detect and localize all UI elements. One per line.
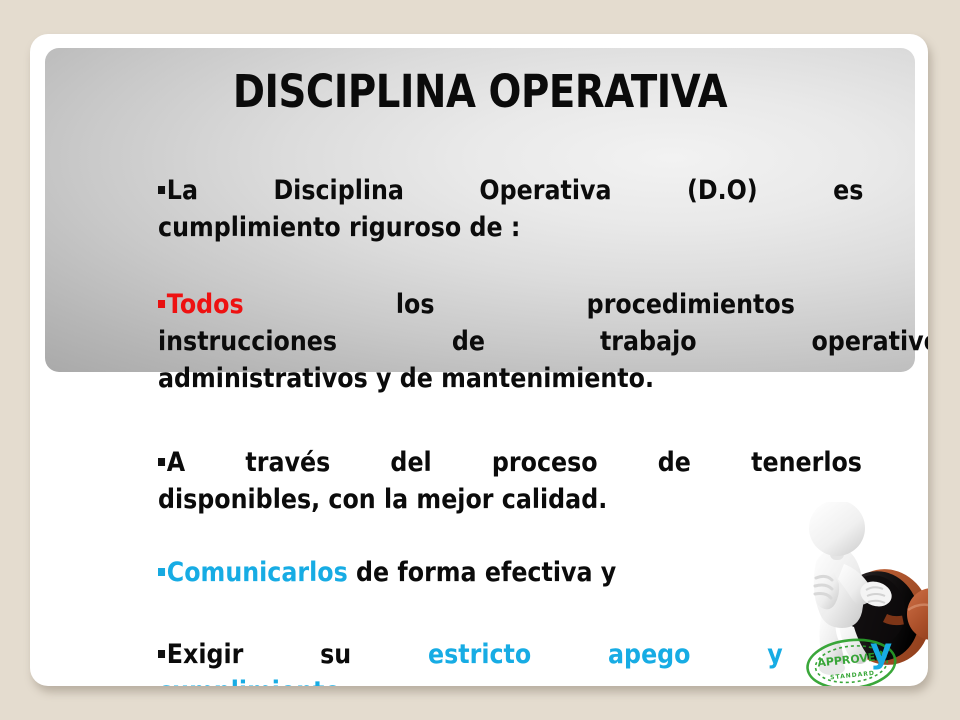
overlapped-letter-y: y <box>870 631 892 671</box>
person-with-stamp-illustration: APPROVED STANDARD y <box>782 502 928 686</box>
bullet-2-line-2: instrucciones de trabajo operativos, <box>158 323 928 360</box>
bullet-paragraph-5: Exigir su estricto apego y cumplimiento <box>158 636 783 686</box>
bullet-marker-2: Todos <box>158 286 244 323</box>
bullet-5-line-1: Exigir su estricto apego y <box>158 636 783 673</box>
bullet-paragraph-3: A través del proceso de tenerlos disponi… <box>158 444 862 518</box>
square-bullet-icon <box>158 458 165 466</box>
square-bullet-icon <box>158 186 165 194</box>
square-bullet-icon <box>158 650 165 658</box>
bullet-marker-3: A <box>158 444 185 481</box>
bullet-1-line-1: La Disciplina Operativa (D.O) es el <box>158 172 928 209</box>
bullet-paragraph-4: Comunicarlos de forma efectiva y <box>158 554 862 591</box>
bullet-marker-5: Exigir <box>158 636 243 673</box>
bullet-3-line-1: A través del proceso de tenerlos <box>158 444 862 481</box>
bullet-1-line-2: cumplimiento riguroso de : <box>158 209 928 246</box>
bullet-5-line-2: cumplimiento <box>158 673 783 686</box>
square-bullet-icon <box>158 300 165 308</box>
bullet-2-line-3: administrativos y de mantenimiento. <box>158 360 928 397</box>
page-title: DISCIPLINA OPERATIVA <box>106 66 854 118</box>
bullet-marker-1: La <box>158 172 198 209</box>
bullet-paragraph-2: Todos los procedimientos e instrucciones… <box>158 286 928 397</box>
bullet-paragraph-1: La Disciplina Operativa (D.O) es el cump… <box>158 172 928 246</box>
approved-stamp-text: APPROVED <box>817 650 885 670</box>
bullet-4-line-1: Comunicarlos de forma efectiva y <box>158 554 862 591</box>
slide-card: DISCIPLINA OPERATIVA La Disciplina Opera… <box>30 34 928 686</box>
bullet-3-line-2: disponibles, con la mejor calidad. <box>158 481 862 518</box>
slide-root: DISCIPLINA OPERATIVA La Disciplina Opera… <box>0 0 960 720</box>
square-bullet-icon <box>158 568 165 576</box>
bullet-2-line-1: Todos los procedimientos e <box>158 286 928 323</box>
approved-stamp-subtext: STANDARD <box>830 670 875 682</box>
